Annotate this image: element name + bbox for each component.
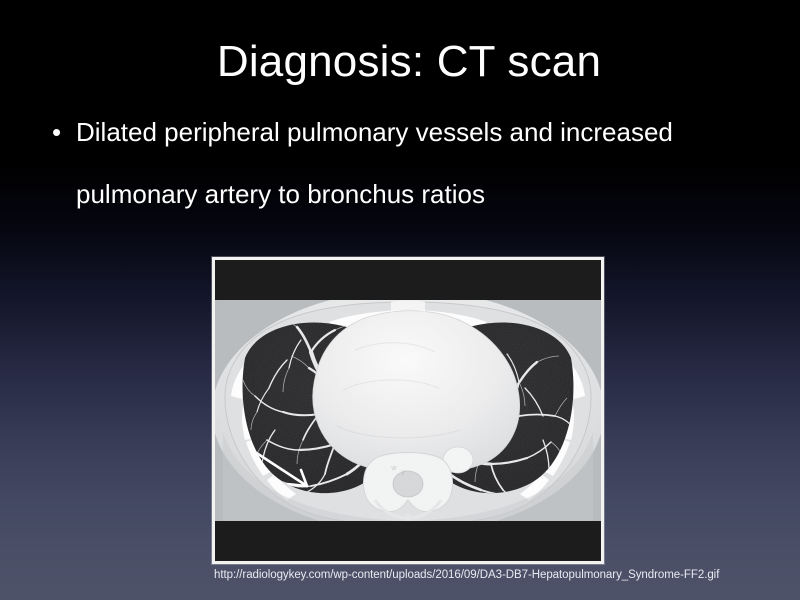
bullet-list: • Dilated peripheral pulmonary vessels a… xyxy=(44,101,704,225)
ct-scan-image: w y xyxy=(215,300,601,521)
list-item: • Dilated peripheral pulmonary vessels a… xyxy=(44,101,704,225)
page-title: Diagnosis: CT scan xyxy=(0,37,800,86)
ct-scan-illustration: w y xyxy=(215,300,601,521)
ct-scan-figure: w y xyxy=(212,257,604,564)
ct-image-letterbox: w y xyxy=(215,260,601,561)
presentation-slide: Diagnosis: CT scan • Dilated peripheral … xyxy=(0,0,800,600)
bullet-marker-icon: • xyxy=(52,101,61,163)
bullet-text: Dilated peripheral pulmonary vessels and… xyxy=(76,117,673,209)
source-url-caption: http://radiologykey.com/wp-content/uploa… xyxy=(214,569,794,581)
